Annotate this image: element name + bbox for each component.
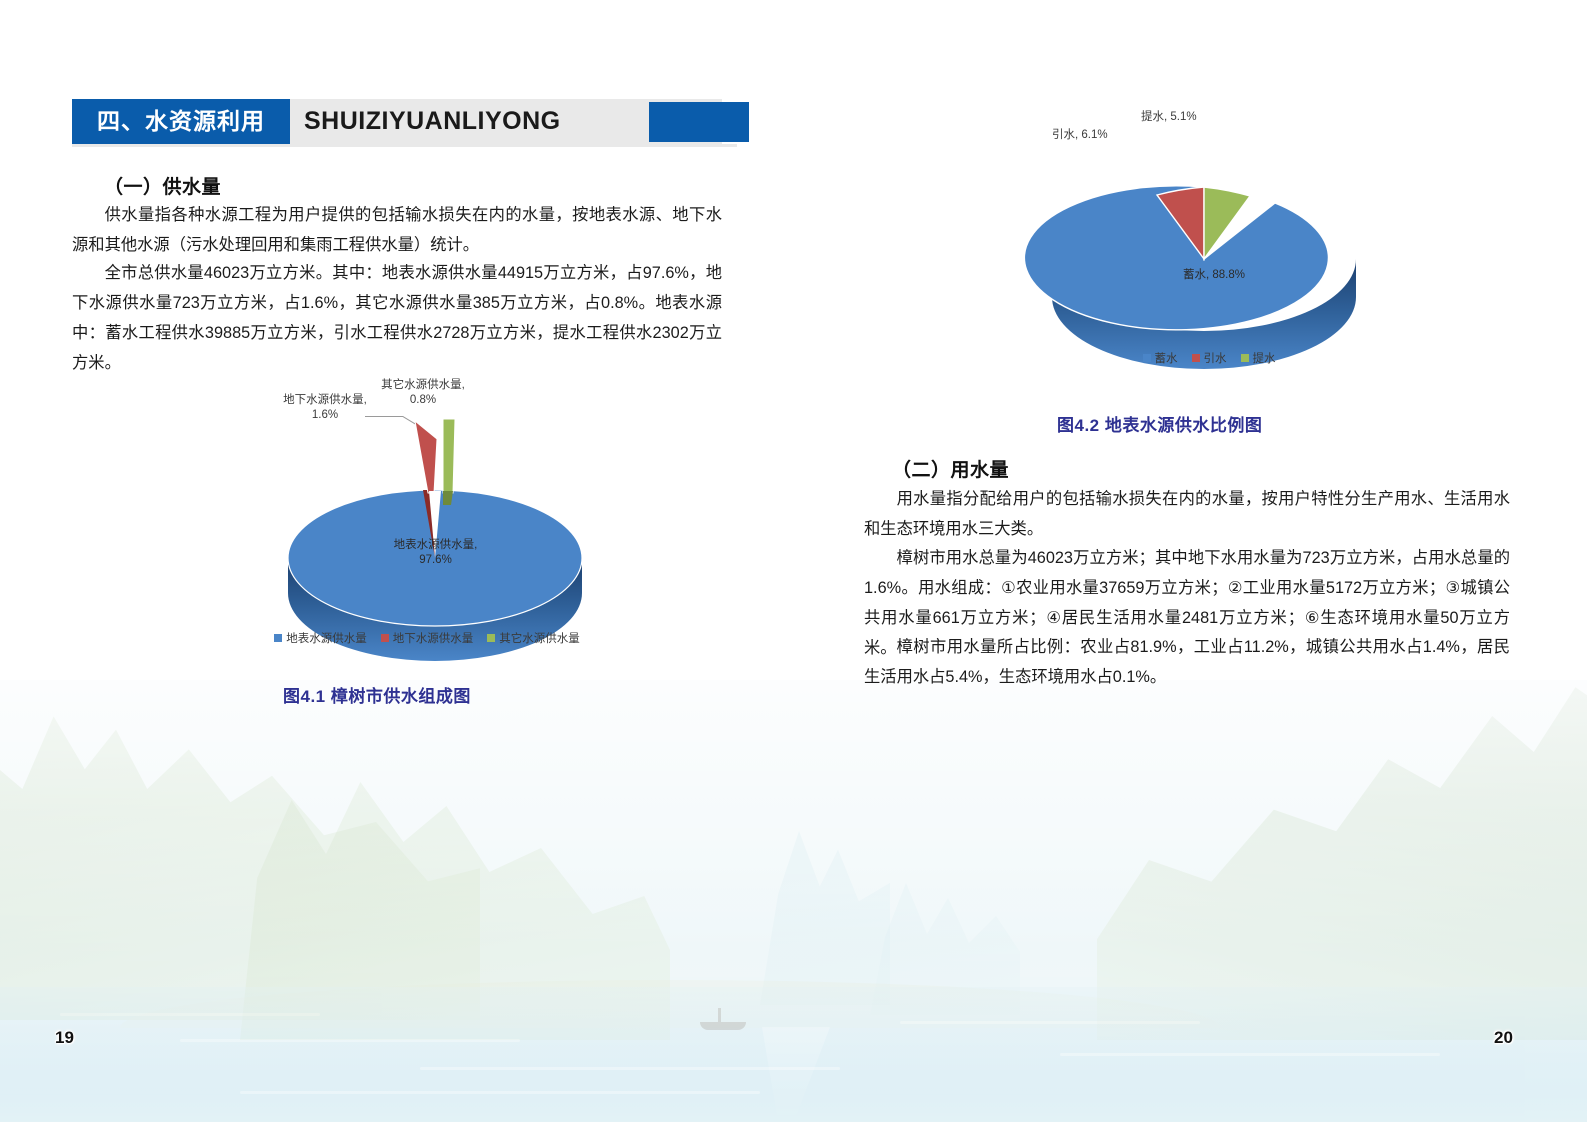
pie1-legend-label-2: 其它水源供水量 [499, 630, 580, 646]
pie2-legend-label-2: 提水 [1253, 350, 1276, 366]
pie1-slice-groundwater [415, 421, 437, 493]
pie2-legend-swatch-2 [1241, 354, 1249, 362]
pie1-legend-label-0: 地表水源供水量 [286, 630, 367, 646]
pie2-legend-label-1: 引水 [1204, 350, 1227, 366]
pie1-label-surface-water-line2: 97.6% [353, 553, 518, 568]
pie2-legend-item-0: 蓄水 [1143, 350, 1178, 366]
pie1-legend-item-1: 地下水源供水量 [381, 630, 474, 646]
pie1-legend-swatch-0 [274, 634, 282, 642]
pie2-legend-swatch-1 [1192, 354, 1200, 362]
pie1-legend-swatch-1 [381, 634, 389, 642]
paragraph-a1: 供水量指各种水源工程为用户提供的包括输水损失在内的水量，按地表水源、地下水源和其… [72, 200, 722, 260]
paragraph-b1: 用水量指分配给用户的包括输水损失在内的水量，按用户特性分生产用水、生活用水和生态… [864, 484, 1510, 544]
banner-tail [72, 144, 737, 147]
paragraph-b1-text: 用水量指分配给用户的包括输水损失在内的水量，按用户特性分生产用水、生活用水和生态… [864, 484, 1510, 544]
caption-figure-4-2: 图4.2 地表水源供水比例图 [1057, 411, 1262, 436]
heading-section-b: （二）用水量 [892, 455, 1009, 482]
paragraph-b3-text: 樟树市用水量所占比例：农业占81.9%，工业占11.2%，城镇公共用水占1.4%… [864, 632, 1510, 692]
pie1-slice-other [443, 419, 455, 493]
pie2-legend: 蓄水 引水 提水 [1099, 350, 1319, 366]
pie1-label-surface-water-line1: 地表水源供水量, [353, 538, 518, 553]
chart-figure-4-1: 地下水源供水量, 1.6% 其它水源供水量, 0.8% [215, 378, 635, 668]
paragraph-b3: 樟树市用水量所占比例：农业占81.9%，工业占11.2%，城镇公共用水占1.4%… [864, 632, 1510, 692]
pie1-label-other-line2: 0.8% [358, 393, 488, 408]
pie1-label-surface-water: 地表水源供水量, 97.6% [353, 538, 518, 568]
pie1-label-other: 其它水源供水量, 0.8% [358, 378, 488, 408]
pie1-legend-item-0: 地表水源供水量 [274, 630, 367, 646]
banner-accent-block [649, 102, 749, 142]
pie2-label-diversion: 引水, 6.1% [1052, 128, 1108, 143]
right-page: 引水, 6.1% 提水, 5.1% 蓄水, 88.8% [794, 0, 1587, 1122]
paragraph-a1-text: 供水量指各种水源工程为用户提供的包括输水损失在内的水量，按地表水源、地下水源和其… [72, 200, 722, 260]
pie2-legend-item-2: 提水 [1241, 350, 1276, 366]
pie1-legend-swatch-2 [487, 634, 495, 642]
section-pinyin: SHUIZIYUANLIYONG [304, 99, 561, 144]
section-title-block: 四、水资源利用 [72, 99, 290, 144]
pie2-legend-label-0: 蓄水 [1155, 350, 1178, 366]
section-title: 四、水资源利用 [72, 99, 290, 144]
pie2-legend-item-1: 引水 [1192, 350, 1227, 366]
pie1-leader-groundwater [365, 416, 403, 417]
chart-figure-4-2: 引水, 6.1% 提水, 5.1% 蓄水, 88.8% [1009, 110, 1409, 400]
pie1-label-other-line1: 其它水源供水量, [358, 378, 488, 393]
pie2-label-storage: 蓄水, 88.8% [1159, 268, 1269, 283]
left-page: 四、水资源利用 SHUIZIYUANLIYONG （一）供水量 供水量指各种水源… [0, 0, 793, 1122]
page-number-left: 19 [55, 1028, 74, 1048]
paragraph-a2-text: 全市总供水量46023万立方米。其中：地表水源供水量44915万立方米，占97.… [72, 258, 722, 378]
section-banner: 四、水资源利用 SHUIZIYUANLIYONG [72, 99, 722, 144]
caption-figure-4-1: 图4.1 樟树市供水组成图 [283, 682, 471, 707]
heading-section-a: （一）供水量 [104, 172, 221, 199]
pie1-legend-label-1: 地下水源供水量 [393, 630, 474, 646]
paragraph-a2: 全市总供水量46023万立方米。其中：地表水源供水量44915万立方米，占97.… [72, 258, 722, 378]
pie2-label-pumping: 提水, 5.1% [1141, 110, 1197, 125]
pie1-legend-item-2: 其它水源供水量 [487, 630, 580, 646]
pie1-legend: 地表水源供水量 地下水源供水量 其它水源供水量 [237, 630, 617, 646]
pie2-legend-swatch-0 [1143, 354, 1151, 362]
page-number-right: 20 [1494, 1028, 1513, 1048]
